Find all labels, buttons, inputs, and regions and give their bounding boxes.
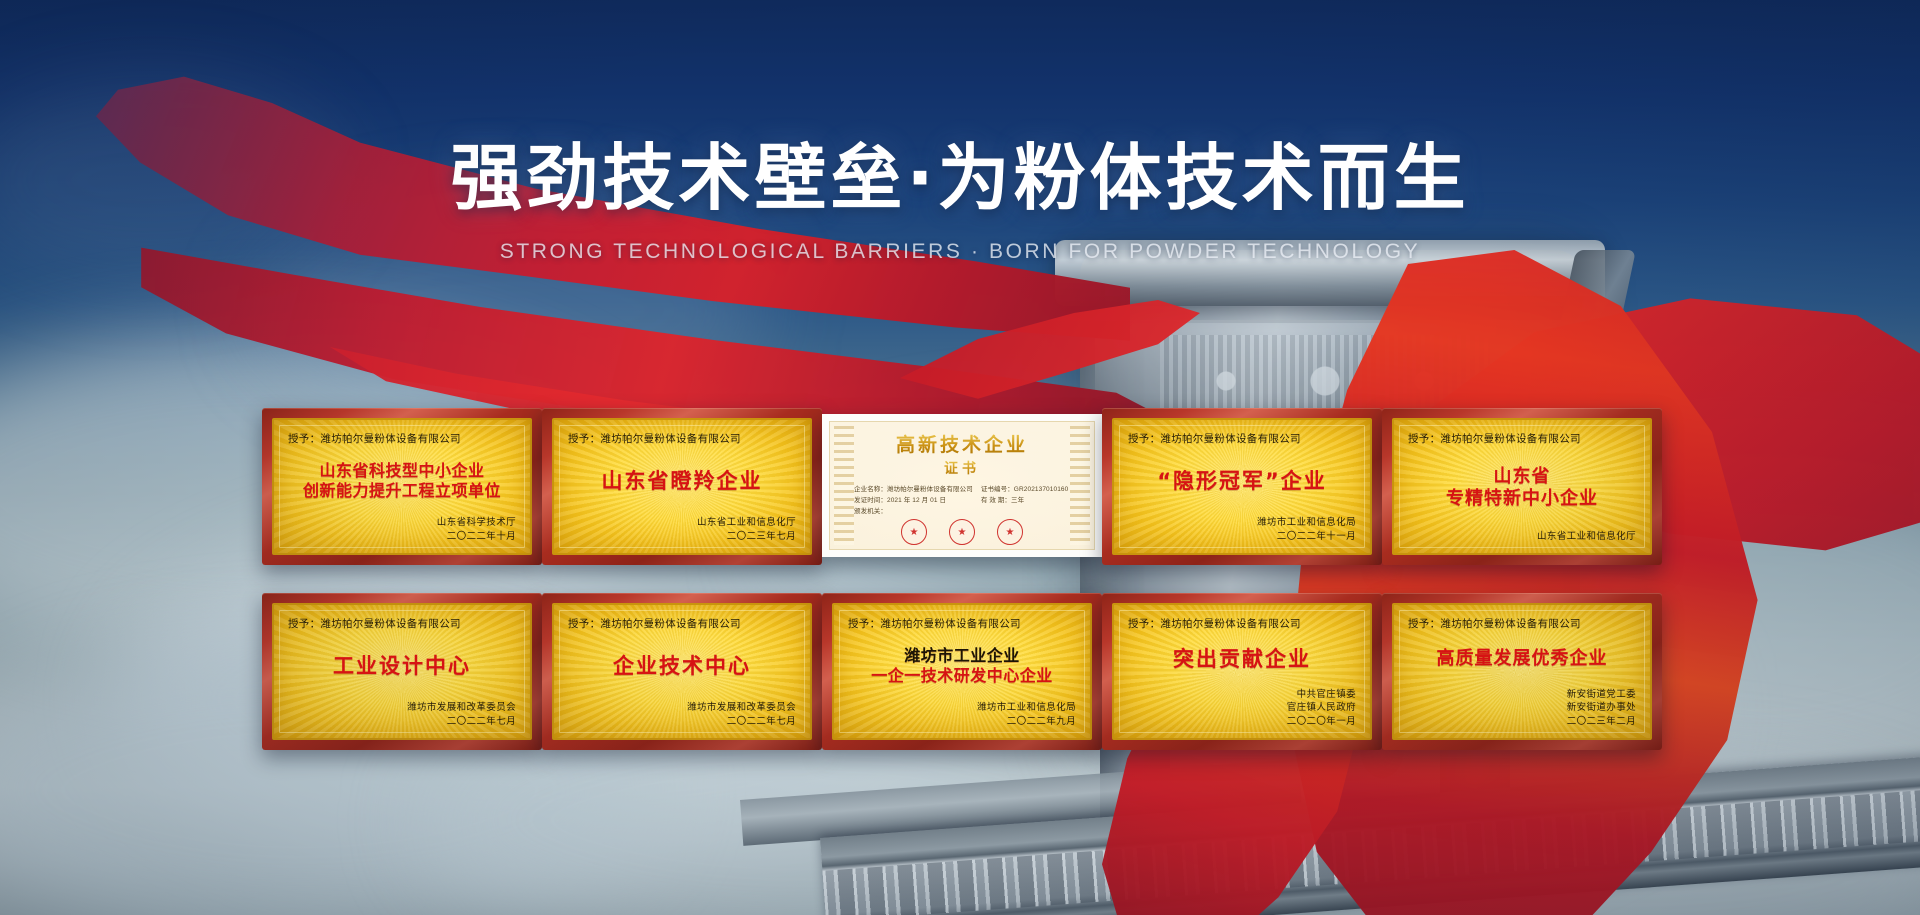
headline-block: 强劲技术壁垒·为粉体技术而生 STRONG TECHNOLOGICAL BARR… xyxy=(0,140,1920,264)
award-plaque[interactable]: 授予：潍坊帕尔曼粉体设备有限公司 工业设计中心 潍坊市发展和改革委员会 二〇二二… xyxy=(262,593,542,750)
high-tech-certificate[interactable]: 高新技术企业 证书 企业名称：潍坊帕尔曼粉体设备有限公司 证书编号：GR2021… xyxy=(822,414,1102,557)
award-title-line: 创新能力提升工程立项单位 xyxy=(303,482,501,501)
awards-row-1: 授予：潍坊帕尔曼粉体设备有限公司 山东省科技型中小企业 创新能力提升工程立项单位… xyxy=(262,408,1662,565)
award-signature: 新安街道党工委 新安街道办事处 二〇二三年二月 xyxy=(1408,688,1636,729)
award-issuer: 潍坊市工业和信息化局 xyxy=(1128,516,1356,530)
award-title: 山东省 专精特新中小企业 xyxy=(1408,446,1636,530)
award-recipient: 授予：潍坊帕尔曼粉体设备有限公司 xyxy=(848,616,1076,631)
award-plaque[interactable]: 授予：潍坊帕尔曼粉体设备有限公司 山东省科技型中小企业 创新能力提升工程立项单位… xyxy=(262,408,542,565)
award-recipient: 授予：潍坊帕尔曼粉体设备有限公司 xyxy=(1408,616,1636,631)
certificate-fields: 企业名称：潍坊帕尔曼粉体设备有限公司 证书编号：GR202137010160 发… xyxy=(840,483,1084,515)
award-issuer: 山东省工业和信息化厅 xyxy=(1408,530,1636,544)
award-signature: 山东省科学技术厅 二〇二二年十月 xyxy=(288,516,516,544)
award-date: 二〇二〇年一月 xyxy=(1128,715,1356,729)
bronze-ding-handle xyxy=(1544,250,1636,400)
certificate-subtitle: 证书 xyxy=(944,458,980,478)
award-date: 二〇二二年十月 xyxy=(288,530,516,544)
award-issuer-secondary: 新安街道办事处 xyxy=(1408,701,1636,715)
award-plaque[interactable]: 授予：潍坊帕尔曼粉体设备有限公司 “隐形冠军”企业 潍坊市工业和信息化局 二〇二… xyxy=(1102,408,1382,565)
award-recipient: 授予：潍坊帕尔曼粉体设备有限公司 xyxy=(1408,431,1636,446)
award-title: 工业设计中心 xyxy=(288,631,516,701)
award-issuer: 潍坊市发展和改革委员会 xyxy=(568,701,796,715)
award-plaque[interactable]: 授予：潍坊帕尔曼粉体设备有限公司 潍坊市工业企业 一企一技术研发中心企业 潍坊市… xyxy=(822,593,1102,750)
award-title: 山东省瞪羚企业 xyxy=(568,446,796,516)
award-cell[interactable]: 授予：潍坊帕尔曼粉体设备有限公司 山东省 专精特新中小企业 山东省工业和信息化厅 xyxy=(1382,408,1662,565)
page-title: 强劲技术壁垒·为粉体技术而生 xyxy=(0,140,1920,218)
certificate-title: 高新技术企业 xyxy=(896,430,1028,457)
award-title: 潍坊市工业企业 一企一技术研发中心企业 xyxy=(848,631,1076,701)
award-issuer-secondary: 官庄镇人民政府 xyxy=(1128,701,1356,715)
award-title-line: 一企一技术研发中心企业 xyxy=(871,667,1053,686)
award-title-line: 山东省瞪羚企业 xyxy=(602,469,763,493)
award-date: 二〇二二年九月 xyxy=(848,715,1076,729)
certificate-field: 发证时间：2021 年 12 月 01 日 xyxy=(854,494,973,504)
award-signature: 山东省工业和信息化厅 二〇二三年七月 xyxy=(568,516,796,544)
official-seal-icon xyxy=(949,519,975,545)
award-cell[interactable]: 授予：潍坊帕尔曼粉体设备有限公司 山东省科技型中小企业 创新能力提升工程立项单位… xyxy=(262,408,542,565)
award-recipient: 授予：潍坊帕尔曼粉体设备有限公司 xyxy=(1128,616,1356,631)
promo-banner: 强劲技术壁垒·为粉体技术而生 STRONG TECHNOLOGICAL BARR… xyxy=(0,0,1920,915)
award-issuer: 山东省科学技术厅 xyxy=(288,516,516,530)
award-recipient: 授予：潍坊帕尔曼粉体设备有限公司 xyxy=(1128,431,1356,446)
award-cell[interactable]: 授予：潍坊帕尔曼粉体设备有限公司 企业技术中心 潍坊市发展和改革委员会 二〇二二… xyxy=(542,593,822,750)
awards-grid: 授予：潍坊帕尔曼粉体设备有限公司 山东省科技型中小企业 创新能力提升工程立项单位… xyxy=(262,408,1662,750)
certificate-field: 颁发机关： xyxy=(854,505,973,515)
official-seal-icon xyxy=(997,519,1023,545)
award-cell-certificate[interactable]: 高新技术企业 证书 企业名称：潍坊帕尔曼粉体设备有限公司 证书编号：GR2021… xyxy=(822,408,1102,565)
stone-plinth xyxy=(820,756,1920,915)
award-signature: 潍坊市工业和信息化局 二〇二二年十一月 xyxy=(1128,516,1356,544)
award-issuer: 潍坊市工业和信息化局 xyxy=(848,701,1076,715)
certificate-seals xyxy=(901,519,1023,545)
award-title-line: 潍坊市工业企业 xyxy=(904,647,1020,666)
award-issuer: 中共官庄镇委 xyxy=(1128,688,1356,702)
award-title-line: 突出贡献企业 xyxy=(1173,647,1311,671)
award-cell[interactable]: 授予：潍坊帕尔曼粉体设备有限公司 山东省瞪羚企业 山东省工业和信息化厅 二〇二三… xyxy=(542,408,822,565)
award-plaque[interactable]: 授予：潍坊帕尔曼粉体设备有限公司 山东省 专精特新中小企业 山东省工业和信息化厅 xyxy=(1382,408,1662,565)
award-issuer: 山东省工业和信息化厅 xyxy=(568,516,796,530)
award-cell[interactable]: 授予：潍坊帕尔曼粉体设备有限公司 “隐形冠军”企业 潍坊市工业和信息化局 二〇二… xyxy=(1102,408,1382,565)
award-signature: 潍坊市发展和改革委员会 二〇二二年七月 xyxy=(288,701,516,729)
award-recipient: 授予：潍坊帕尔曼粉体设备有限公司 xyxy=(288,431,516,446)
award-cell[interactable]: 授予：潍坊帕尔曼粉体设备有限公司 工业设计中心 潍坊市发展和改革委员会 二〇二二… xyxy=(262,593,542,750)
award-signature: 山东省工业和信息化厅 xyxy=(1408,530,1636,544)
award-recipient: 授予：潍坊帕尔曼粉体设备有限公司 xyxy=(288,616,516,631)
award-cell[interactable]: 授予：潍坊帕尔曼粉体设备有限公司 突出贡献企业 中共官庄镇委 官庄镇人民政府 二… xyxy=(1102,593,1382,750)
award-title-line: “隐形冠军”企业 xyxy=(1157,469,1327,493)
award-date: 二〇二二年十一月 xyxy=(1128,530,1356,544)
award-title: 山东省科技型中小企业 创新能力提升工程立项单位 xyxy=(288,446,516,516)
award-title-line: 山东省 xyxy=(1494,467,1551,488)
award-title-line: 工业设计中心 xyxy=(333,654,471,678)
award-title: 企业技术中心 xyxy=(568,631,796,701)
award-recipient: 授予：潍坊帕尔曼粉体设备有限公司 xyxy=(568,431,796,446)
award-plaque[interactable]: 授予：潍坊帕尔曼粉体设备有限公司 山东省瞪羚企业 山东省工业和信息化厅 二〇二三… xyxy=(542,408,822,565)
award-plaque[interactable]: 授予：潍坊帕尔曼粉体设备有限公司 突出贡献企业 中共官庄镇委 官庄镇人民政府 二… xyxy=(1102,593,1382,750)
award-signature: 潍坊市工业和信息化局 二〇二二年九月 xyxy=(848,701,1076,729)
award-recipient: 授予：潍坊帕尔曼粉体设备有限公司 xyxy=(568,616,796,631)
plinth-medallion-pattern xyxy=(822,789,1920,915)
certificate-field: 企业名称：潍坊帕尔曼粉体设备有限公司 xyxy=(854,483,973,493)
award-title-line: 专精特新中小企业 xyxy=(1446,489,1598,510)
award-signature: 中共官庄镇委 官庄镇人民政府 二〇二〇年一月 xyxy=(1128,688,1356,729)
award-title-line: 企业技术中心 xyxy=(613,654,751,678)
award-date: 二〇二二年七月 xyxy=(288,715,516,729)
award-signature: 潍坊市发展和改革委员会 二〇二二年七月 xyxy=(568,701,796,729)
award-cell[interactable]: 授予：潍坊帕尔曼粉体设备有限公司 潍坊市工业企业 一企一技术研发中心企业 潍坊市… xyxy=(822,593,1102,750)
award-title-line: 山东省科技型中小企业 xyxy=(319,462,484,481)
page-subtitle: STRONG TECHNOLOGICAL BARRIERS · BORN FOR… xyxy=(0,240,1920,264)
award-title-line: 高质量发展优秀企业 xyxy=(1437,649,1608,670)
award-plaque[interactable]: 授予：潍坊帕尔曼粉体设备有限公司 企业技术中心 潍坊市发展和改革委员会 二〇二二… xyxy=(542,593,822,750)
award-title: 突出贡献企业 xyxy=(1128,631,1356,688)
official-seal-icon xyxy=(901,519,927,545)
award-date: 二〇二三年二月 xyxy=(1408,715,1636,729)
award-plaque[interactable]: 授予：潍坊帕尔曼粉体设备有限公司 高质量发展优秀企业 新安街道党工委 新安街道办… xyxy=(1382,593,1662,750)
award-cell[interactable]: 授予：潍坊帕尔曼粉体设备有限公司 高质量发展优秀企业 新安街道党工委 新安街道办… xyxy=(1382,593,1662,750)
awards-row-2: 授予：潍坊帕尔曼粉体设备有限公司 工业设计中心 潍坊市发展和改革委员会 二〇二二… xyxy=(262,593,1662,750)
award-date: 二〇二三年七月 xyxy=(568,530,796,544)
award-title: “隐形冠军”企业 xyxy=(1128,446,1356,516)
certificate-field: 有 效 期：三年 xyxy=(981,494,1070,504)
award-issuer: 潍坊市发展和改革委员会 xyxy=(288,701,516,715)
award-title: 高质量发展优秀企业 xyxy=(1408,631,1636,688)
certificate-field: 证书编号：GR202137010160 xyxy=(981,483,1070,493)
award-date: 二〇二二年七月 xyxy=(568,715,796,729)
stone-plinth-top xyxy=(740,759,1302,846)
award-issuer: 新安街道党工委 xyxy=(1408,688,1636,702)
